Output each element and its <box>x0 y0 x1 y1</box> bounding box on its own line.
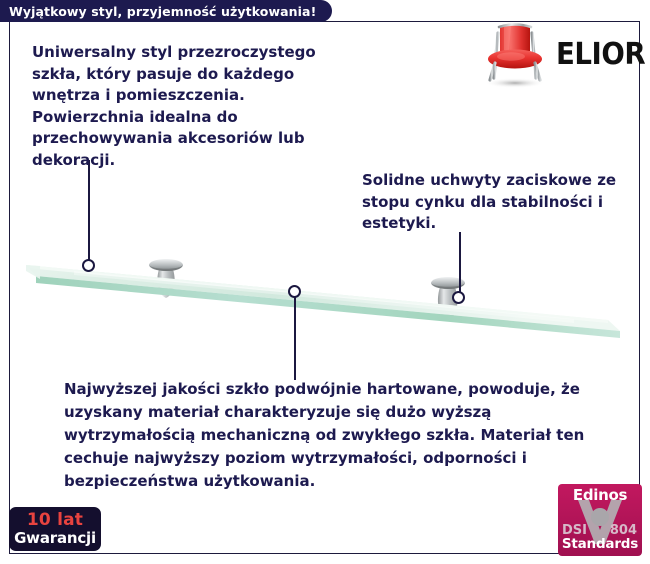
callout-marker-glass-style <box>82 259 95 272</box>
header-banner: Wyjątkowy styl, przyjemność użytkowania! <box>0 0 332 22</box>
leader-line-glass-style <box>88 160 90 266</box>
callout-marker-brackets <box>452 291 465 304</box>
certificate-subtitle: Standards <box>558 536 642 552</box>
callout-marker-tempered-glass <box>288 285 301 298</box>
brand-wordmark: ELIOR <box>556 37 645 72</box>
warranty-badge: 10 lat Gwarancji <box>9 507 101 551</box>
header-banner-text: Wyjątkowy styl, przyjemność użytkowania! <box>9 4 316 19</box>
callout-glass-style-text: Uniwersalny styl przezroczystego szkła, … <box>32 42 332 171</box>
red-chair-icon <box>478 18 552 90</box>
callout-brackets-text: Solidne uchwyty zaciskowe ze stopu cynku… <box>362 170 627 235</box>
certificate-badge: Edinos DSI 804 Standards <box>558 484 642 556</box>
warranty-label: Gwarancji <box>14 529 96 547</box>
brand-logo: ELIOR <box>478 18 638 90</box>
leader-line-brackets <box>459 232 461 300</box>
callout-tempered-glass-text: Najwyższej jakości szkło podwójnie harto… <box>64 378 594 493</box>
infographic-page: Wyjątkowy styl, przyjemność użytkowania! <box>0 0 650 564</box>
glass-shelf-illustration <box>14 238 636 358</box>
leader-line-tempered-glass <box>294 296 296 380</box>
warranty-years: 10 lat <box>27 512 83 529</box>
